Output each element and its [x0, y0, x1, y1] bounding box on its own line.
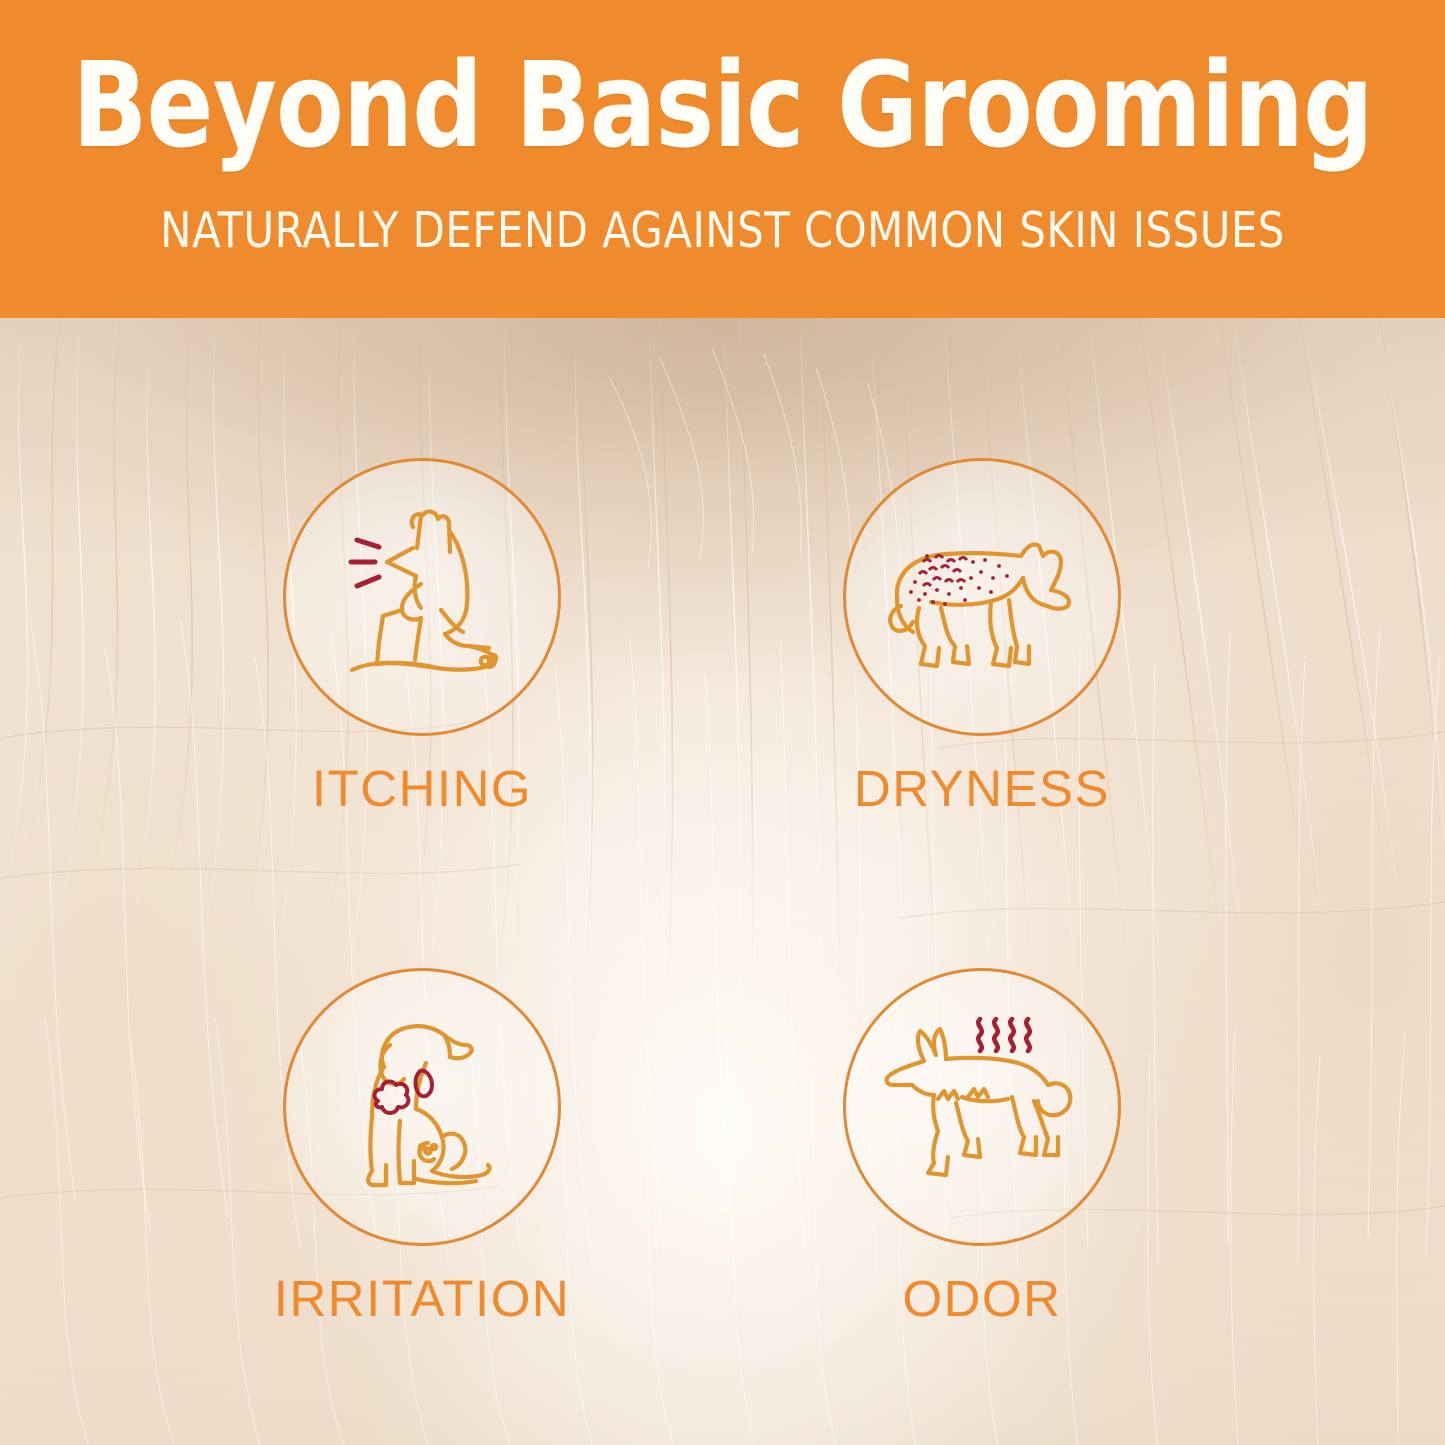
header-banner: Beyond Basic Grooming NATURALLY DEFEND A…: [0, 0, 1445, 318]
dog-scratching-icon: [317, 492, 527, 702]
icon-circle-itching: [283, 458, 561, 736]
icon-circle-odor: [843, 968, 1121, 1246]
icon-circle-dryness: [843, 458, 1121, 736]
dog-smell-icon: [872, 997, 1092, 1217]
icon-circle-irritation: [283, 968, 561, 1246]
issue-card-irritation: IRRITATION: [172, 968, 672, 1326]
issue-label-itching: ITCHING: [172, 762, 672, 816]
issue-label-irritation: IRRITATION: [172, 1272, 672, 1326]
dog-dandruff-icon: [875, 490, 1090, 705]
issue-card-odor: ODOR: [732, 968, 1232, 1326]
dog-irritated-skin-icon: [316, 1001, 528, 1213]
issue-card-dryness: DRYNESS: [732, 458, 1232, 816]
stink-waves: [978, 1019, 1029, 1051]
issue-card-itching: ITCHING: [172, 458, 672, 816]
itch-lines: [351, 540, 379, 586]
issue-label-odor: ODOR: [732, 1272, 1232, 1326]
infographic-root: Beyond Basic Grooming NATURALLY DEFEND A…: [0, 0, 1445, 1445]
issues-grid: ITCHING: [0, 318, 1445, 1445]
page-title: Beyond Basic Grooming: [51, 46, 1395, 164]
issue-label-dryness: DRYNESS: [732, 762, 1232, 816]
page-subtitle: NATURALLY DEFEND AGAINST COMMON SKIN ISS…: [36, 205, 1409, 257]
